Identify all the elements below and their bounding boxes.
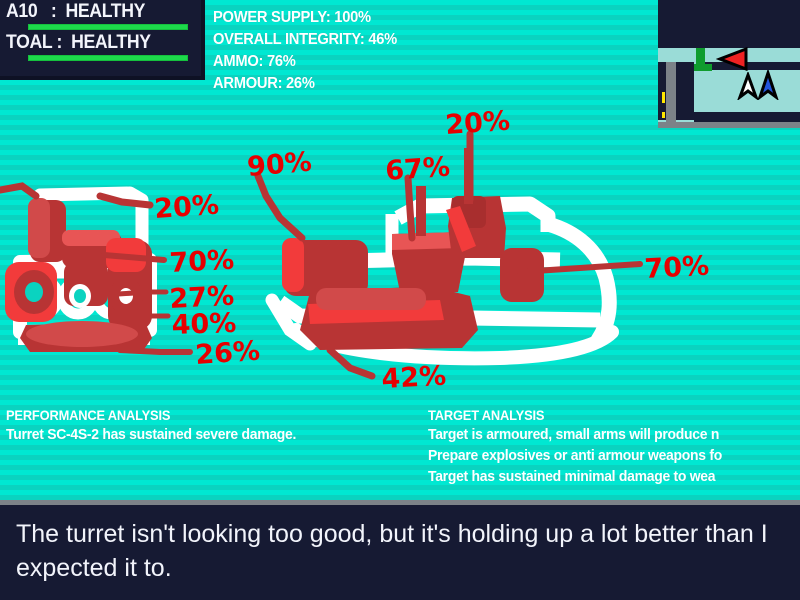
- minimap-wall-top: [658, 0, 800, 48]
- player-marker-icon: [737, 72, 759, 100]
- performance-analysis-line-0: Turret SC-4S-2 has sustained severe dama…: [6, 424, 296, 445]
- stat-power-supply: POWER SUPPLY: 100%: [213, 7, 397, 29]
- dialogue-box[interactable]: The turret isn't looking too good, but i…: [0, 500, 800, 600]
- unit-status-panel: A10 : HEALTHY TOAL : HEALTHY: [0, 0, 205, 80]
- minimap-wall-bottom: [694, 112, 800, 122]
- enemy-marker-icon: [716, 46, 752, 72]
- annotation-turret-4: 26%: [194, 336, 261, 371]
- minimap-objective-marker-2: [662, 112, 665, 118]
- annotation-turret-0: 20%: [153, 190, 220, 225]
- annotation-turret-3: 40%: [171, 308, 237, 341]
- performance-analysis-panel: PERFORMANCE ANALYSIS Turret SC-4S-2 has …: [6, 406, 318, 445]
- stat-armour: ARMOUR: 26%: [213, 73, 397, 95]
- minimap-door-horizontal: [694, 64, 712, 71]
- minimap-border-bottom: [658, 122, 800, 128]
- target-analysis-line-1: Prepare explosives or anti armour weapon…: [428, 445, 774, 466]
- stats-readout: POWER SUPPLY: 100% OVERALL INTEGRITY: 46…: [213, 7, 413, 95]
- target-analysis-line-2: Target has sustained minimal damage to w…: [428, 466, 774, 487]
- target-analysis-line-0: Target is armoured, small arms will prod…: [428, 424, 774, 445]
- health-bar-a10: [28, 24, 188, 30]
- minimap-objective-marker-1: [662, 92, 665, 103]
- health-bar-toal: [28, 55, 188, 61]
- status-label-a10: A10 : HEALTHY: [6, 2, 182, 22]
- turret-damage-overlay: [5, 198, 152, 352]
- stat-overall-integrity: OVERALL INTEGRITY: 46%: [213, 29, 397, 51]
- annotation-target-3: 70%: [644, 251, 710, 285]
- annotation-target-1: 67%: [384, 152, 451, 187]
- performance-analysis-title: PERFORMANCE ANALYSIS: [6, 406, 293, 424]
- minimap-wall-left-inner: [676, 62, 694, 120]
- game-screen: 20% 70% 27% 40% 26% 90% 67% 20% 70% 42% …: [0, 0, 800, 600]
- status-row-toal: TOAL : HEALTHY: [6, 33, 195, 61]
- annotation-target-2: 20%: [444, 106, 511, 141]
- status-label-toal: TOAL : HEALTHY: [6, 33, 182, 53]
- target-analysis-title: TARGET ANALYSIS: [428, 406, 770, 424]
- annotation-target-0: 90%: [246, 146, 313, 183]
- minimap-border-left: [666, 62, 676, 122]
- annotation-target-4: 42%: [381, 361, 447, 395]
- target-analysis-panel: TARGET ANALYSIS Target is armoured, smal…: [428, 406, 800, 487]
- minimap[interactable]: [658, 0, 800, 128]
- dialogue-text: The turret isn't looking too good, but i…: [16, 517, 784, 585]
- ally-marker-icon: [757, 70, 779, 100]
- status-row-a10: A10 : HEALTHY: [6, 2, 195, 30]
- stat-ammo: AMMO: 76%: [213, 51, 397, 73]
- annotation-turret-1: 70%: [169, 245, 235, 279]
